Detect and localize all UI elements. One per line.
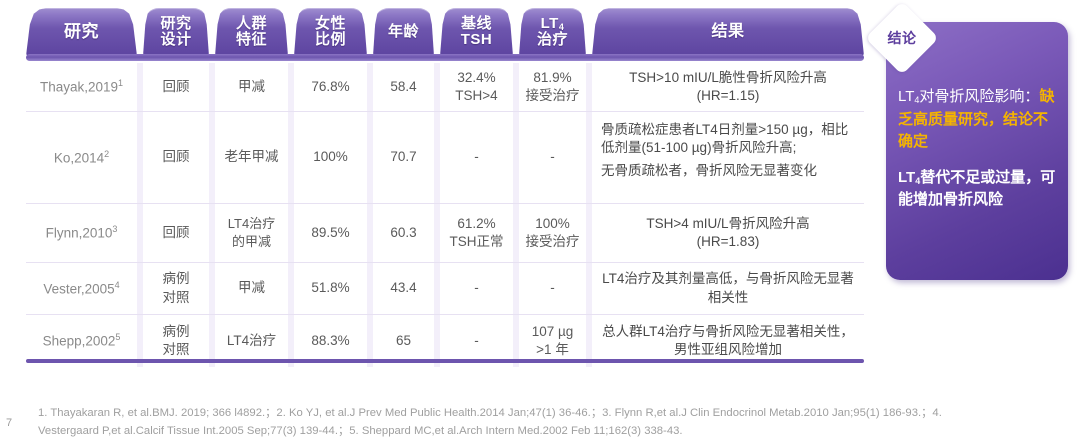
cell-design: 回顾 (143, 63, 209, 111)
cell-age: 70.7 (373, 112, 434, 203)
table-row: Vester,20054 病例对照 甲减 51.8% 43.4 - (26, 262, 864, 314)
cell-lt4-treatment: - (519, 112, 586, 203)
cell-population: 老年甲减 (215, 112, 288, 203)
table-bottom-rule (26, 359, 864, 363)
cell-baseline-tsh: - (440, 263, 513, 314)
column-header-lt4-treatment-label: LT4 治疗 (537, 16, 568, 48)
conclusion-text: LT4对骨折风险影响：缺乏高质量研究，结论不确定 LT4替代不足或过量，可能增加… (898, 86, 1058, 212)
conclusion-paragraph-1: LT4对骨折风险影响：缺乏高质量研究，结论不确定 (898, 86, 1058, 154)
cell-age: 60.3 (373, 204, 434, 262)
cell-population: LT4治疗的甲减 (215, 204, 288, 262)
column-header-study-label: 研究 (64, 23, 99, 41)
conclusion-badge-label-wrap: 结论 (876, 12, 928, 64)
cell-study: Vester,20054 (26, 263, 137, 314)
cell-study: Thayak,20191 (26, 63, 137, 111)
cell-baseline-tsh: - (440, 112, 513, 203)
table-header-row: 研究 研究 设计 人群 特征 女性 比例 年龄 基线 (26, 8, 864, 62)
column-header-baseline-tsh-label: 基线 TSH (461, 16, 493, 48)
cell-lt4-treatment: 81.9%接受治疗 (519, 63, 586, 111)
cell-age: 58.4 (373, 63, 434, 111)
column-header-study: 研究 (26, 8, 137, 56)
table-row: Flynn,20103 回顾 LT4治疗的甲减 89.5% 60.3 61.2%… (26, 203, 864, 262)
column-header-design-label: 研究 设计 (160, 16, 191, 48)
cell-result: LT4治疗及其剂量高低，与骨折风险无显著相关性 (592, 263, 864, 314)
reference-line-1: 1. Thayakaran R, et al.BMJ. 2019; 366 l4… (38, 405, 1058, 423)
cell-age: 43.4 (373, 263, 434, 314)
cell-baseline-tsh: 61.2%TSH正常 (440, 204, 513, 262)
page-number: 7 (6, 417, 12, 429)
cell-population: 甲减 (215, 263, 288, 314)
column-header-baseline-tsh: 基线 TSH (440, 8, 513, 56)
references: 1. Thayakaran R, et al.BMJ. 2019; 366 l4… (38, 405, 1058, 440)
conclusion-badge-label: 结论 (888, 28, 917, 48)
cell-study: Flynn,20103 (26, 204, 137, 262)
cell-result: TSH>4 mIU/L骨折风险升高(HR=1.83) (592, 204, 864, 262)
column-header-result: 结果 (592, 8, 864, 56)
cell-design: 回顾 (143, 112, 209, 203)
cell-lt4-treatment: 100%接受治疗 (519, 204, 586, 262)
column-header-age-label: 年龄 (388, 24, 419, 40)
header-underline (26, 54, 864, 61)
conclusion-paragraph-2: LT4替代不足或过量，可能增加骨折风险 (898, 167, 1058, 212)
column-header-result-label: 结果 (711, 23, 744, 40)
cell-design: 病例对照 (143, 263, 209, 314)
table-row: Ko,20142 回顾 老年甲减 100% 70.7 - (26, 111, 864, 203)
cell-female-ratio: 76.8% (294, 63, 367, 111)
column-header-age: 年龄 (373, 8, 434, 56)
cell-female-ratio: 100% (294, 112, 367, 203)
table-body: Thayak,20191 回顾 甲减 76.8% 58.4 32.4%TSH>4 (26, 63, 864, 367)
reference-line-2: Vestergaard P,et al.Calcif Tissue Int.20… (38, 423, 1058, 441)
column-header-lt4-treatment: LT4 治疗 (519, 8, 586, 56)
cell-design: 回顾 (143, 204, 209, 262)
column-header-population: 人群 特征 (215, 8, 288, 56)
cell-lt4-treatment: - (519, 263, 586, 314)
column-header-design: 研究 设计 (143, 8, 209, 56)
table-row: Thayak,20191 回顾 甲减 76.8% 58.4 32.4%TSH>4 (26, 63, 864, 111)
column-header-female-ratio: 女性 比例 (294, 8, 367, 56)
cell-population: 甲减 (215, 63, 288, 111)
cell-study: Ko,20142 (26, 112, 137, 203)
column-header-female-ratio-label: 女性 比例 (315, 16, 346, 48)
cell-female-ratio: 89.5% (294, 204, 367, 262)
cell-baseline-tsh: 32.4%TSH>4 (440, 63, 513, 111)
studies-table: 研究 研究 设计 人群 特征 女性 比例 年龄 基线 (26, 8, 864, 360)
column-header-population-label: 人群 特征 (236, 16, 267, 48)
cell-result: 骨质疏松症患者LT4日剂量>150 µg，相比低剂量(51-100 µg)骨折风… (592, 112, 864, 203)
cell-female-ratio: 51.8% (294, 263, 367, 314)
cell-result: TSH>10 mIU/L脆性骨折风险升高(HR=1.15) (592, 63, 864, 111)
